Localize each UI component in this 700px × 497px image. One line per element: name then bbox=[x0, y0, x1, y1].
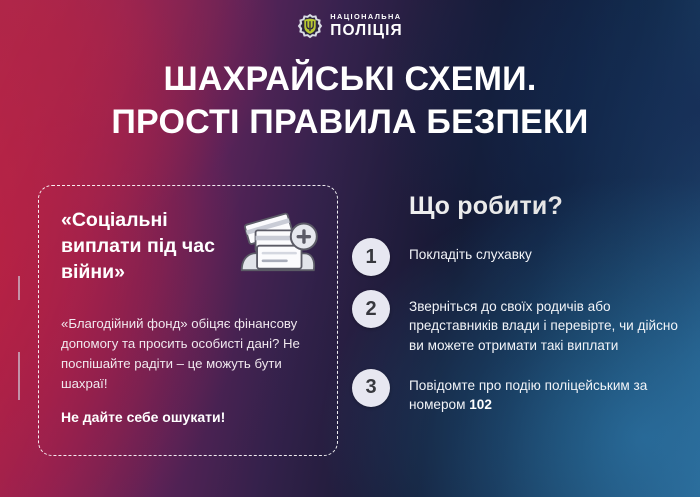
step-connector-1-2 bbox=[18, 276, 20, 300]
steps-list: 1 Покладіть слухавку 2 Зверніться до сво… bbox=[352, 238, 692, 414]
title-line-1: ШАХРАЙСЬКІ СХЕМИ. bbox=[0, 58, 700, 101]
title-line-2: ПРОСТІ ПРАВИЛА БЕЗПЕКИ bbox=[0, 101, 700, 144]
emergency-number: 102 bbox=[469, 397, 492, 412]
scheme-card: «Соціальні виплати під час війни» «Благо… bbox=[38, 185, 338, 456]
police-logo: НАЦІОНАЛЬНА ПОЛІЦІЯ bbox=[0, 13, 700, 39]
card-warning-text: Не дайте себе ошукати! bbox=[61, 408, 319, 428]
infographic-poster: НАЦІОНАЛЬНА ПОЛІЦІЯ ШАХРАЙСЬКІ СХЕМИ. ПР… bbox=[0, 0, 700, 497]
step-number-badge: 1 bbox=[352, 238, 390, 276]
police-badge-icon bbox=[297, 13, 323, 39]
step-connector-2-3 bbox=[18, 352, 20, 400]
step-item: 1 Покладіть слухавку bbox=[352, 238, 692, 276]
page-title: ШАХРАЙСЬКІ СХЕМИ. ПРОСТІ ПРАВИЛА БЕЗПЕКИ bbox=[0, 58, 700, 144]
step-item: 3 Повідомте про подію поліцейським за но… bbox=[352, 369, 692, 415]
step-item: 2 Зверніться до своїх родичів або предст… bbox=[352, 290, 692, 355]
bank-cards-plus-icon bbox=[231, 212, 323, 284]
logo-wordmark: НАЦІОНАЛЬНА ПОЛІЦІЯ bbox=[330, 13, 402, 39]
step-number-badge: 2 bbox=[352, 290, 390, 328]
step-text-prefix: Повідомте про подію поліцейським за номе… bbox=[409, 378, 647, 412]
step-text: Покладіть слухавку bbox=[409, 238, 532, 264]
logo-line-police: ПОЛІЦІЯ bbox=[330, 23, 402, 39]
step-text: Повідомте про подію поліцейським за номе… bbox=[409, 369, 692, 415]
step-number-badge: 3 bbox=[352, 369, 390, 407]
card-body-text: «Благодійний фонд» обіцяє фінансову допо… bbox=[61, 314, 315, 394]
card-heading: «Соціальні виплати під час війни» bbox=[61, 208, 236, 286]
logo-line-national: НАЦІОНАЛЬНА bbox=[330, 13, 402, 21]
step-text: Зверніться до своїх родичів або представ… bbox=[409, 290, 692, 355]
steps-heading: Що робити? bbox=[409, 192, 563, 221]
